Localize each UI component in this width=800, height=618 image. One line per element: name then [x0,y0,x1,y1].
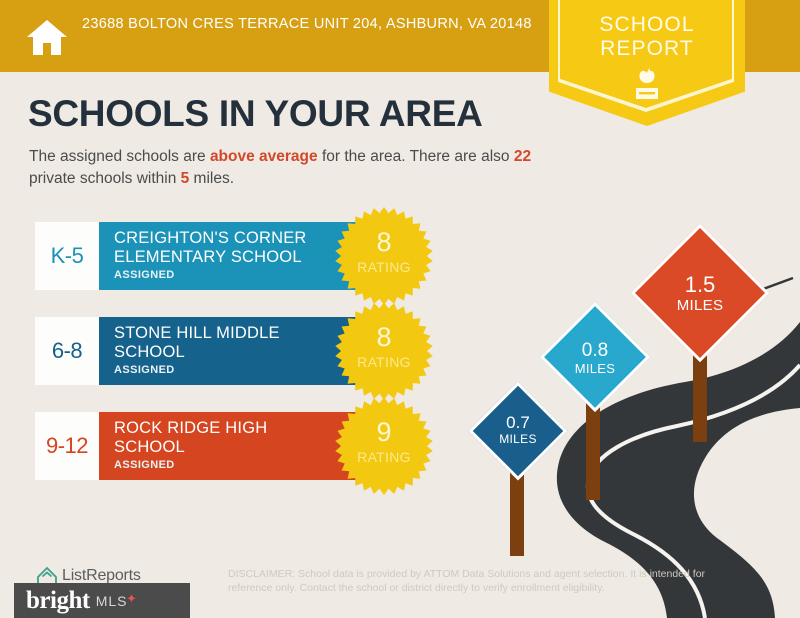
sign-distance-unit: MILES [483,433,553,445]
rating-value: 8 [335,322,433,353]
badge-title-line-1: SCHOOL [549,12,745,37]
school-info-bar: ROCK RIDGE HIGH SCHOOL ASSIGNED [99,412,365,480]
grade-range-box: 6-8 [35,317,99,385]
road-distance-illustration: 1.5 MILES 0.8 MILES 0.7 MILES [455,230,800,618]
school-row[interactable]: 9-12 ROCK RIDGE HIGH SCHOOL ASSIGNED 9 R… [35,412,365,480]
sign-label: 0.7 MILES [483,414,553,445]
apple-on-book-icon [635,68,659,102]
bright-mls-suffix: MLS [96,593,128,609]
rating-label: RATING [335,449,433,465]
rating-value: 8 [335,227,433,258]
sign-distance-unit: MILES [651,298,749,313]
school-report-badge: SCHOOL REPORT [549,0,745,126]
school-report-infographic: 23688 BOLTON CRES TERRACE UNIT 204, ASHB… [0,0,800,618]
sign-label: 1.5 MILES [651,274,749,313]
rating-label: RATING [335,354,433,370]
school-name: CREIGHTON'S CORNER ELEMENTARY SCHOOL [114,229,324,267]
subtitle-highlight-count: 22 [514,148,531,165]
school-assignment-status: ASSIGNED [114,364,175,376]
grade-range-label: K-5 [51,243,84,269]
school-assignment-status: ASSIGNED [114,269,175,281]
subtitle-part-1: The assigned schools are [29,148,210,165]
rating-badge: 9 RATING [335,397,433,495]
sign-distance-value: 0.7 [483,414,553,431]
school-row[interactable]: 6-8 STONE HILL MIDDLE SCHOOL ASSIGNED 8 … [35,317,365,385]
page-title: SCHOOLS IN YOUR AREA [28,93,483,135]
school-name: ROCK RIDGE HIGH SCHOOL [114,419,324,457]
subtitle-highlight-radius: 5 [181,170,190,187]
school-name: STONE HILL MIDDLE SCHOOL [114,324,324,362]
property-address: 23688 BOLTON CRES TERRACE UNIT 204, ASHB… [82,14,532,35]
page-subtitle: The assigned schools are above average f… [29,146,569,190]
house-icon [26,18,68,56]
sign-distance-value: 0.8 [556,341,634,360]
sign-distance-unit: MILES [556,362,634,375]
grade-range-label: 9-12 [46,433,88,459]
rating-value: 9 [335,417,433,448]
rating-label: RATING [335,259,433,275]
subtitle-part-3: private schools within [29,170,181,187]
grade-range-label: 6-8 [52,338,82,364]
bright-mls-accent-dot: ✦ [126,591,137,607]
school-assignment-status: ASSIGNED [114,459,175,471]
grade-range-box: K-5 [35,222,99,290]
badge-title-line-2: REPORT [549,36,745,61]
bright-mls-brand: bright [26,587,90,615]
school-row[interactable]: K-5 CREIGHTON'S CORNER ELEMENTARY SCHOOL… [35,222,365,290]
sign-label: 0.8 MILES [556,341,634,375]
subtitle-highlight-rating: above average [210,148,318,165]
rating-badge: 8 RATING [335,207,433,305]
sign-distance-value: 1.5 [651,274,749,296]
subtitle-part-2: for the area. There are also [318,148,514,165]
grade-range-box: 9-12 [35,412,99,480]
school-info-bar: CREIGHTON'S CORNER ELEMENTARY SCHOOL ASS… [99,222,365,290]
rating-badge: 8 RATING [335,302,433,400]
school-info-bar: STONE HILL MIDDLE SCHOOL ASSIGNED [99,317,365,385]
disclaimer-text: DISCLAIMER: School data is provided by A… [228,567,708,595]
subtitle-part-4: miles. [189,170,234,187]
bright-mls-watermark: bright ✦ MLS [14,583,190,618]
